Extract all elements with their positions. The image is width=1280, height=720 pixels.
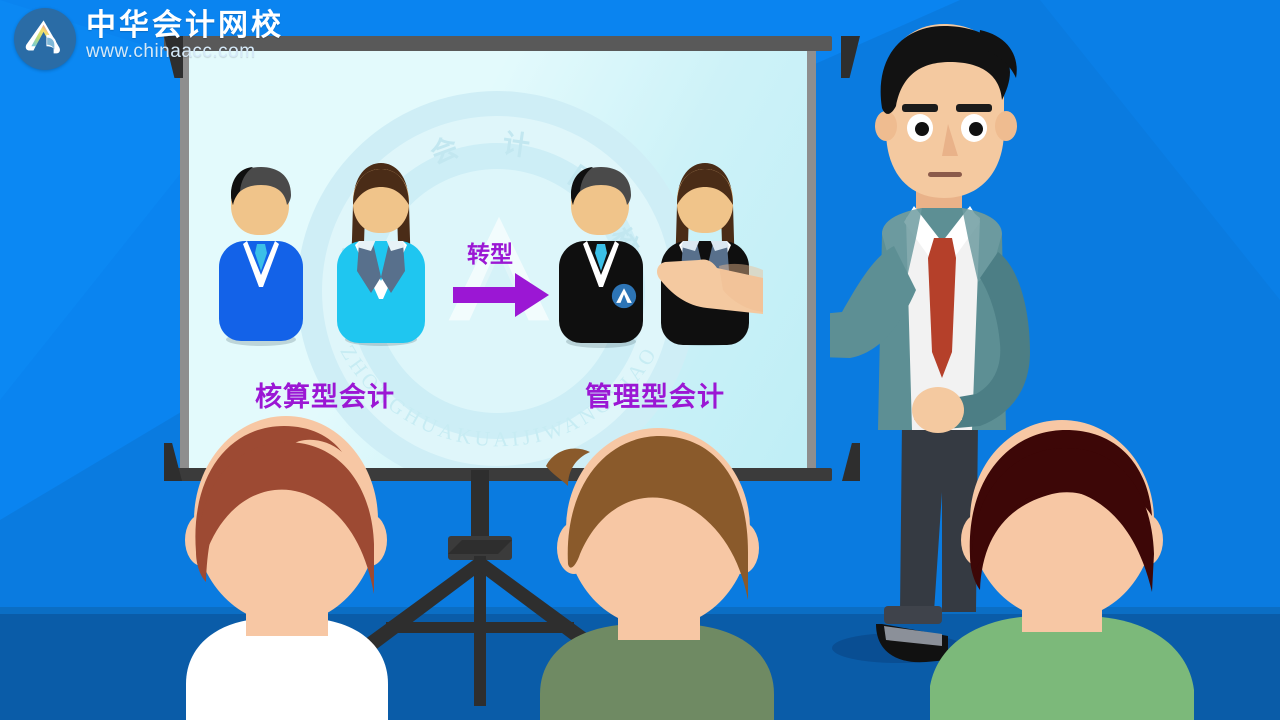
ear-right xyxy=(995,111,1017,141)
brand-url: www.chinaacc.com xyxy=(86,41,284,63)
shirt-tie-icon xyxy=(219,241,303,301)
brand-text: 中华会计网校 www.chinaacc.com xyxy=(86,8,284,63)
audience-member-2 xyxy=(520,424,800,720)
ear-left xyxy=(875,111,897,141)
hair-icon xyxy=(215,165,307,245)
screen-side-right xyxy=(807,48,816,471)
label-accounting-type: 核算型会计 xyxy=(255,375,395,414)
right-arrow-icon xyxy=(453,271,551,319)
brand-logo: 中华会计网校 www.chinaacc.com xyxy=(14,8,284,70)
slide-figure-accountant-man-after xyxy=(555,165,647,347)
chinaacc-book-logo-icon xyxy=(22,16,68,62)
brand-name: 中华会计网校 xyxy=(86,10,284,42)
hair-icon xyxy=(555,165,647,245)
eyebrow-left xyxy=(902,104,938,112)
blouse-vest-icon xyxy=(337,241,425,311)
slide-figure-accountant-man-before xyxy=(215,165,307,345)
logo-badge xyxy=(14,8,76,70)
screen-side-left xyxy=(180,48,189,471)
label-management-type: 管理型会计 xyxy=(585,375,725,414)
mouth xyxy=(928,172,962,177)
video-frame: 中 华 会 计 网 校 ZHONGHUAKUAIJIWANGXIAO xyxy=(0,0,1280,720)
slide-figure-accountant-woman-before xyxy=(331,157,431,347)
audience-member-3 xyxy=(930,420,1230,720)
company-badge-icon xyxy=(611,283,637,309)
eyebrow-right xyxy=(956,104,992,112)
right-hand-pointing-icon xyxy=(645,236,765,326)
arrow-label: 转型 xyxy=(467,235,513,269)
audience-member-1 xyxy=(150,412,430,720)
watermark-arc-char-4: 计 xyxy=(500,121,532,163)
